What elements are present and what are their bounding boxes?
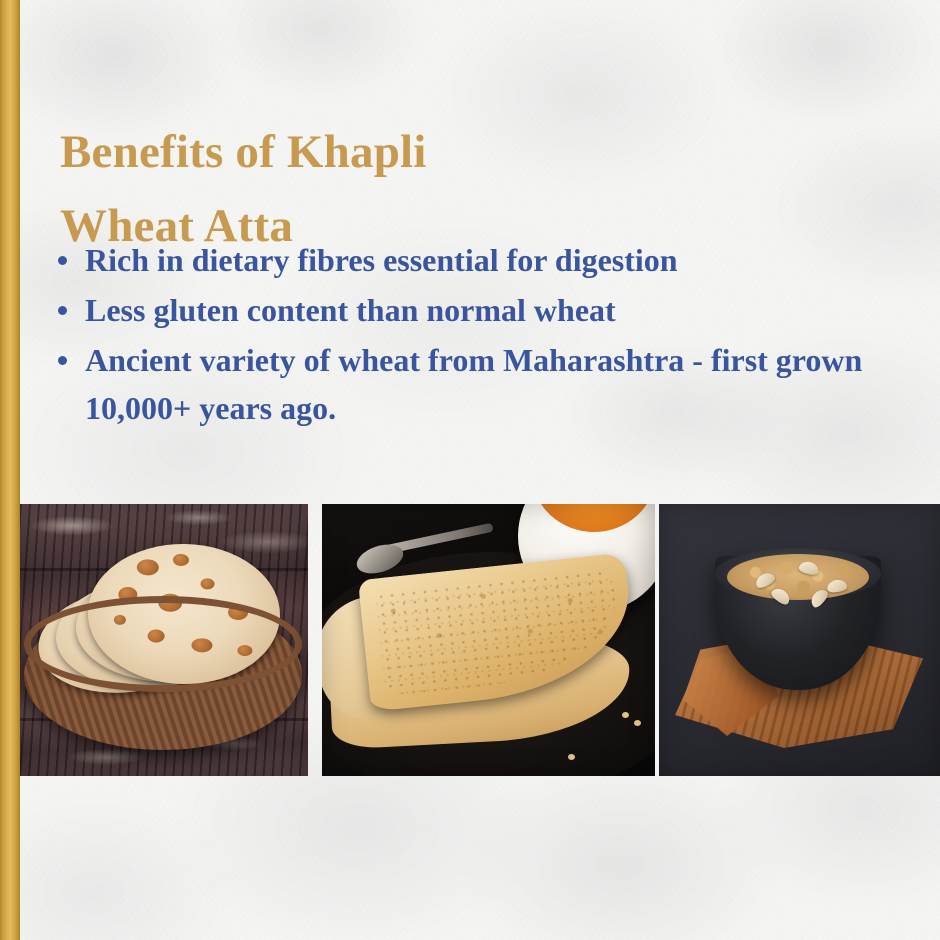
poster-canvas: Benefits of Khapli Wheat Atta Rich in di… — [0, 0, 940, 940]
halwa-bowl-photo — [659, 504, 940, 776]
gold-accent-bar — [0, 0, 20, 940]
list-item: Rich in dietary fibres essential for dig… — [56, 236, 906, 284]
photo-strip — [0, 504, 940, 776]
list-item: Less gluten content than normal wheat — [56, 286, 906, 334]
benefits-list: Rich in dietary fibres essential for dig… — [56, 236, 906, 434]
basket-rim — [24, 596, 302, 692]
page-title-line-1: Benefits of Khapli — [60, 115, 700, 189]
char-spot — [137, 559, 159, 575]
list-item: Ancient variety of wheat from Maharashtr… — [56, 336, 906, 432]
lentil-grain — [622, 712, 629, 718]
char-spot — [200, 578, 214, 589]
lentil-grain — [568, 754, 575, 760]
roti-basket-photo — [20, 504, 308, 776]
dosa-curry-photo-art — [322, 504, 655, 776]
halwa-bowl-photo-art — [659, 504, 940, 776]
dosa-curry-photo — [322, 504, 655, 776]
halwa-filling — [727, 554, 869, 600]
char-spot — [173, 554, 189, 566]
roti-basket-photo-art — [20, 504, 308, 776]
lentil-grain — [634, 720, 641, 726]
